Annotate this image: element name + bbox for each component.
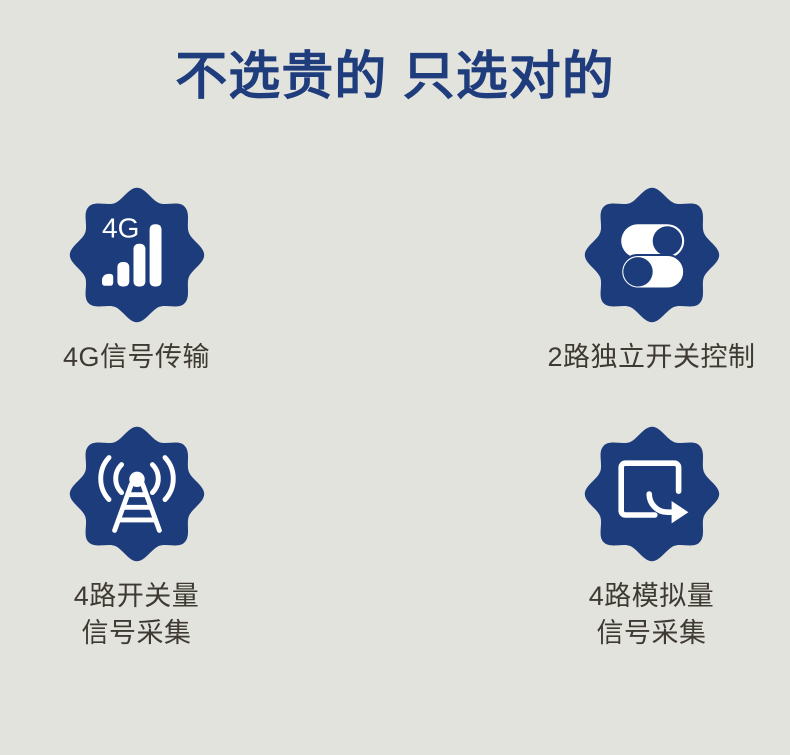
feature-item-dual-switch: 2路独立开关控制 (395, 185, 790, 376)
feature-badge-analog-input (582, 424, 722, 564)
feature-badge-digital-input (67, 424, 207, 564)
toggle-switch-on-icon (621, 224, 684, 258)
feature-caption: 4G信号传输 (63, 339, 210, 376)
feature-item-analog-input: 4路模拟量 信号采集 (395, 424, 790, 652)
feature-badge-dual-switch (582, 185, 722, 325)
promo-feature-panel: 不选贵的 只选对的 4G 4G信号传输 (0, 0, 790, 755)
page-title: 不选贵的 只选对的 (0, 46, 790, 108)
toggle-switch-off-icon (621, 255, 684, 289)
feature-grid: 4G 4G信号传输 (0, 185, 790, 652)
feature-item-digital-input: 4路开关量 信号采集 (0, 424, 395, 652)
4g-label: 4G (102, 213, 139, 244)
feature-caption: 2路独立开关控制 (547, 339, 755, 376)
feature-item-4g-signal: 4G 4G信号传输 (0, 185, 395, 376)
feature-caption: 4路开关量 信号采集 (74, 578, 200, 652)
feature-caption: 4路模拟量 信号采集 (589, 578, 715, 652)
tower-antenna-dot-icon (129, 472, 144, 487)
feature-badge-4g-signal: 4G (67, 185, 207, 325)
